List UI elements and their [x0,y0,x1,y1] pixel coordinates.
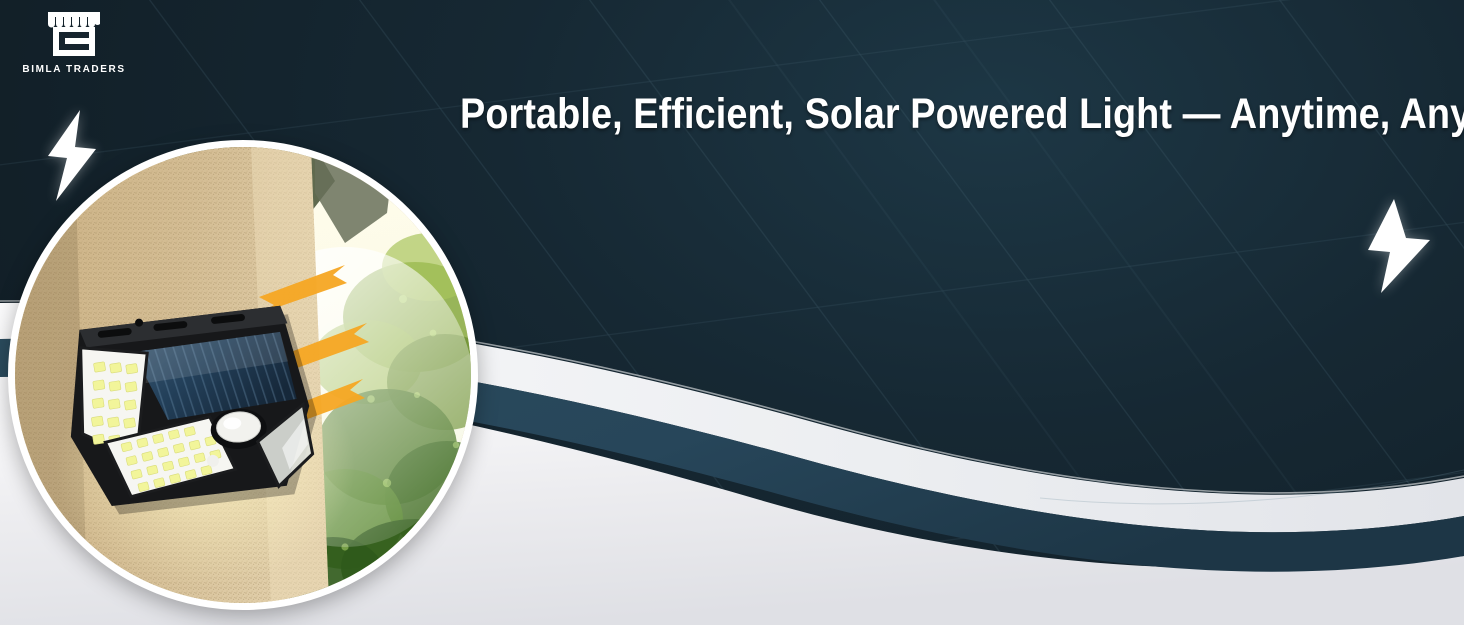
headline-text: Portable, Efficient, Solar Powered Light… [460,91,1322,137]
lightning-bolt-icon-right [1360,196,1440,296]
solar-wall-light-illustration [15,147,471,603]
storefront-icon [44,8,104,60]
brand-logo[interactable]: BIMLA TRADERS [14,8,134,94]
brand-name: BIMLA TRADERS [22,64,125,75]
promo-banner: BIMLA TRADERS Portable, Efficient, Solar… [0,0,1464,625]
solar-light-fixture [63,304,323,518]
product-photo [8,140,478,610]
